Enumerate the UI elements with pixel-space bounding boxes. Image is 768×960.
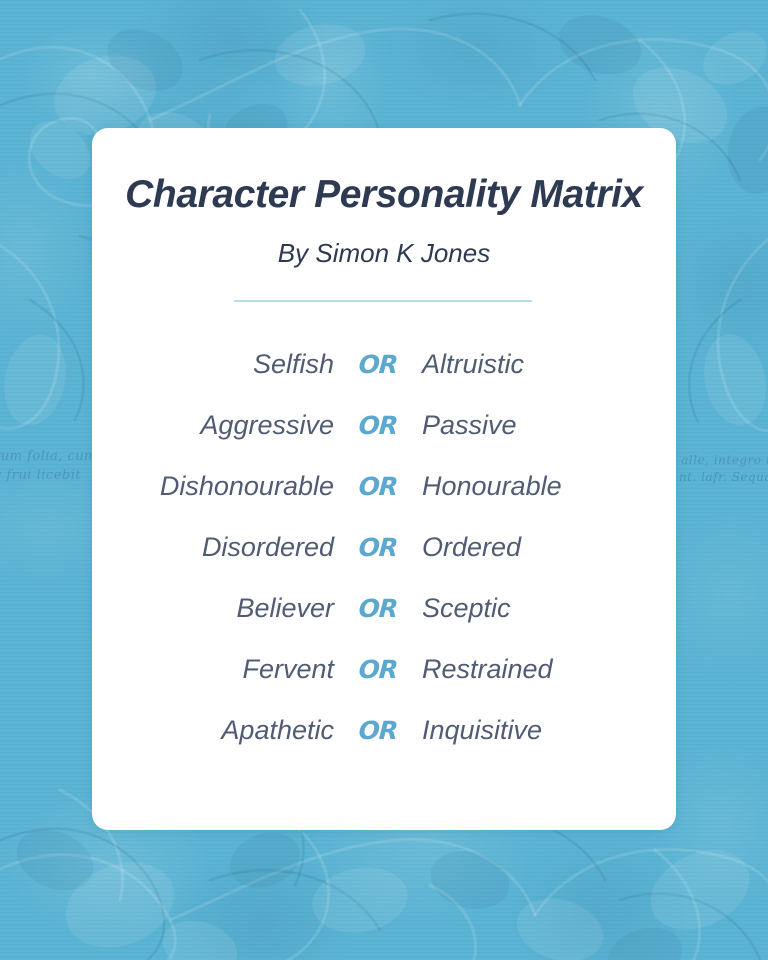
or-separator-icon: OR [333, 533, 423, 562]
page-root: rum folia, cumc frui licebit alle, integ… [0, 0, 768, 960]
trait-right-label: Sceptic [422, 593, 676, 624]
trait-left-label: Selfish [92, 349, 334, 380]
trait-row: Disordered OR Ordered [92, 517, 676, 578]
trait-row: Apathetic OR Inquisitive [92, 700, 676, 761]
or-separator-icon: OR [333, 716, 423, 745]
author-subtitle: By Simon K Jones [92, 238, 676, 269]
or-separator-icon: OR [333, 411, 423, 440]
background-script-right: alle, integro rnt. lafr. Sequa [679, 452, 768, 487]
trait-left-label: Dishonourable [92, 471, 334, 502]
card-inner: Character Personality Matrix By Simon K … [92, 128, 676, 830]
trait-left-label: Apathetic [92, 715, 334, 746]
title-divider [234, 300, 532, 302]
trait-right-label: Restrained [422, 654, 676, 685]
background-script-left: rum folia, cumc frui licebit [0, 448, 97, 486]
or-separator-icon: OR [333, 594, 423, 623]
trait-left-label: Aggressive [92, 410, 334, 441]
trait-left-label: Fervent [92, 654, 334, 685]
trait-right-label: Inquisitive [422, 715, 676, 746]
trait-left-label: Believer [92, 593, 334, 624]
or-separator-icon: OR [333, 655, 423, 684]
trait-right-label: Passive [422, 410, 676, 441]
trait-right-label: Honourable [422, 471, 676, 502]
or-separator-icon: OR [333, 472, 423, 501]
trait-row: Selfish OR Altruistic [92, 334, 676, 395]
trait-left-label: Disordered [92, 532, 334, 563]
trait-right-label: Ordered [422, 532, 676, 563]
trait-list: Selfish OR Altruistic Aggressive OR Pass… [92, 334, 676, 761]
trait-row: Aggressive OR Passive [92, 395, 676, 456]
page-title: Character Personality Matrix [92, 173, 676, 217]
trait-row: Believer OR Sceptic [92, 578, 676, 639]
or-separator-icon: OR [333, 350, 423, 379]
trait-row: Fervent OR Restrained [92, 639, 676, 700]
trait-row: Dishonourable OR Honourable [92, 456, 676, 517]
matrix-card: Character Personality Matrix By Simon K … [92, 128, 676, 830]
trait-right-label: Altruistic [422, 349, 676, 380]
